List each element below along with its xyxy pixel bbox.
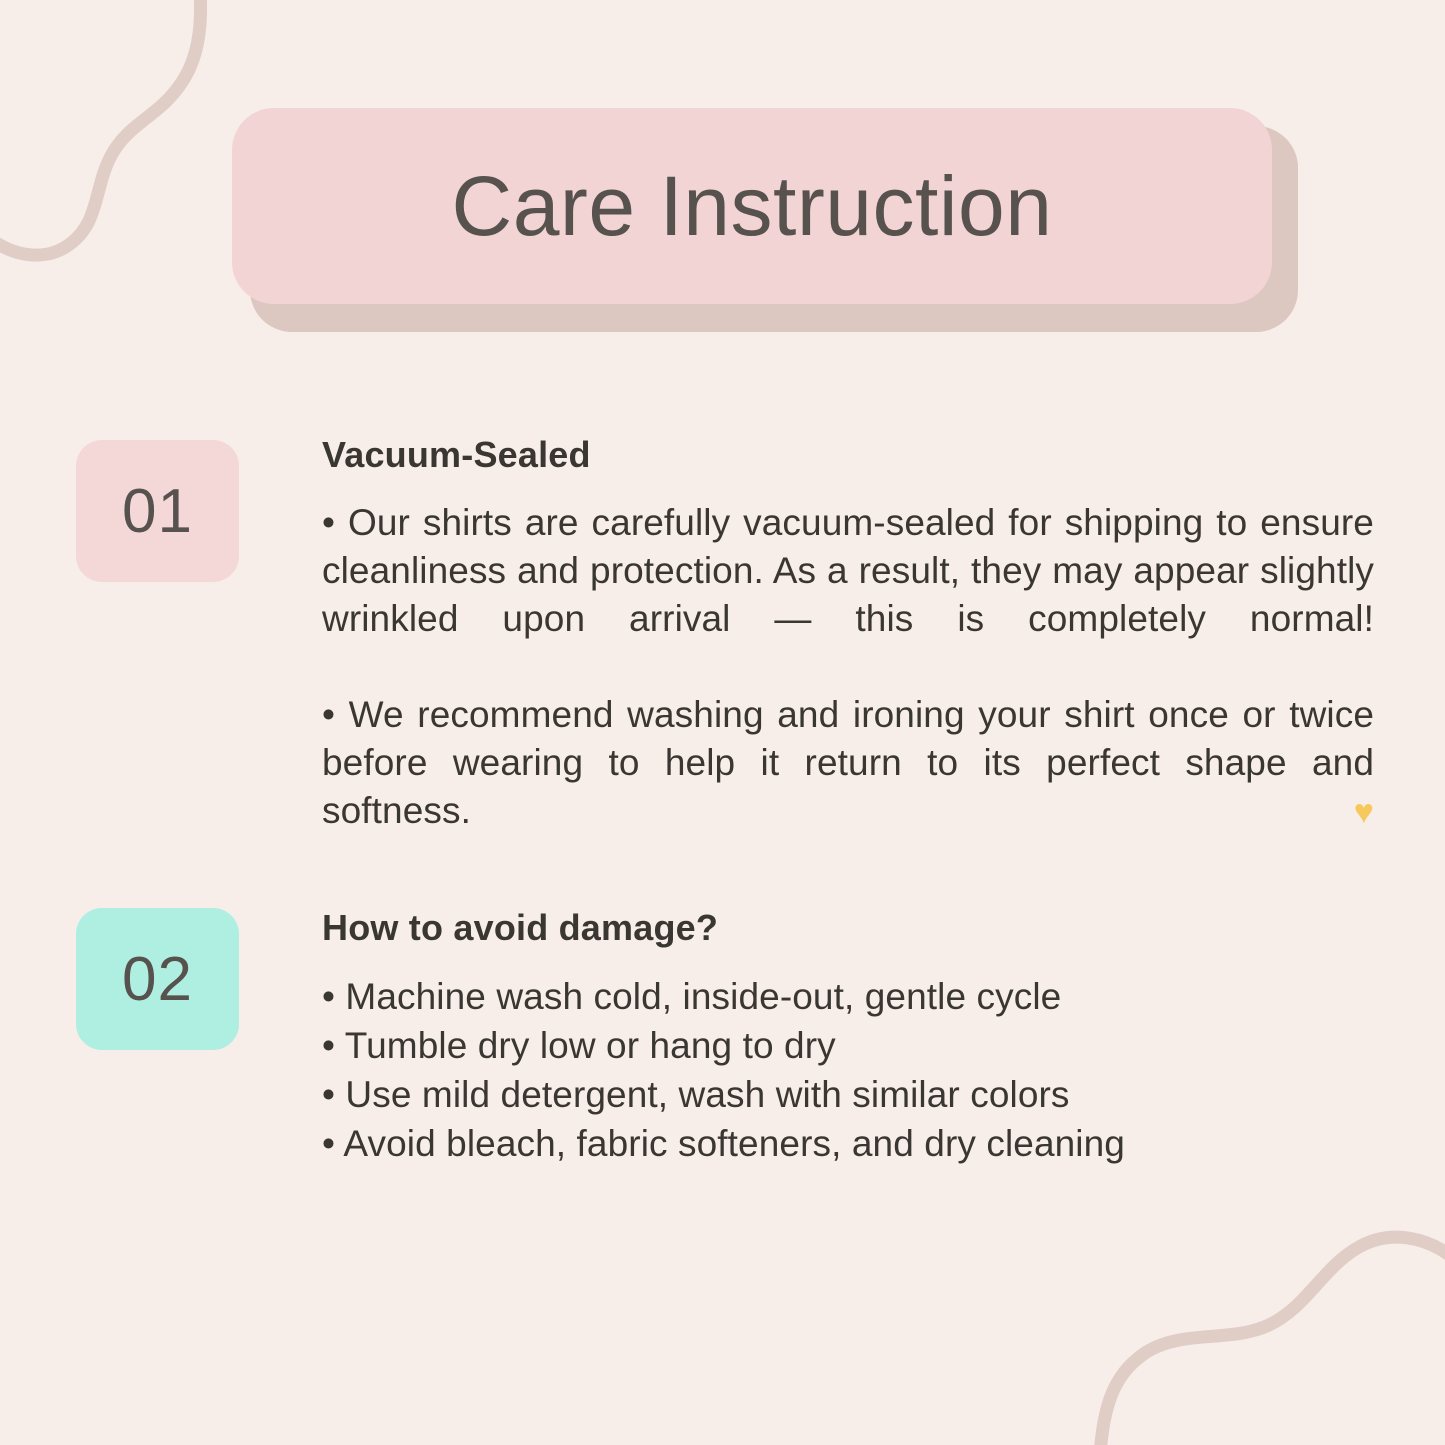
section-paragraphs-01: • Our shirts are carefully vacuum-sealed… (322, 499, 1374, 884)
section-content-01: Vacuum-Sealed • Our shirts are carefully… (322, 435, 1374, 883)
section-number-label: 01 (122, 476, 193, 547)
section-number-badge-01: 01 (76, 440, 239, 582)
care-instruction-page: Care Instruction 01 Vacuum-Sealed • Our … (0, 0, 1445, 1445)
decorative-wave-top-left (0, 0, 250, 282)
list-item: • Use mild detergent, wash with similar … (322, 1070, 1374, 1119)
header-banner-box: Care Instruction (232, 108, 1272, 304)
page-title: Care Instruction (452, 164, 1053, 248)
section-paragraph-2-wrap: • We recommend washing and ironing your … (322, 691, 1374, 883)
yellow-heart-icon: ♥ (1354, 793, 1374, 831)
list-item: • Avoid bleach, fabric softeners, and dr… (322, 1119, 1374, 1168)
decorative-wave-bottom-right (1091, 1175, 1445, 1445)
section-number-label: 02 (122, 944, 193, 1015)
section-heading-02: How to avoid damage? (322, 908, 1374, 948)
section-content-02: How to avoid damage? • Machine wash cold… (322, 908, 1374, 1168)
section-paragraph-2: • We recommend washing and ironing your … (322, 694, 1374, 831)
care-bullet-list: • Machine wash cold, inside-out, gentle … (322, 972, 1374, 1169)
header-banner: Care Instruction (232, 108, 1280, 324)
section-number-badge-02: 02 (76, 908, 239, 1050)
section-paragraph-1: • Our shirts are carefully vacuum-sealed… (322, 499, 1374, 691)
list-item: • Machine wash cold, inside-out, gentle … (322, 972, 1374, 1021)
section-heading-01: Vacuum-Sealed (322, 435, 1374, 475)
list-item: • Tumble dry low or hang to dry (322, 1021, 1374, 1070)
